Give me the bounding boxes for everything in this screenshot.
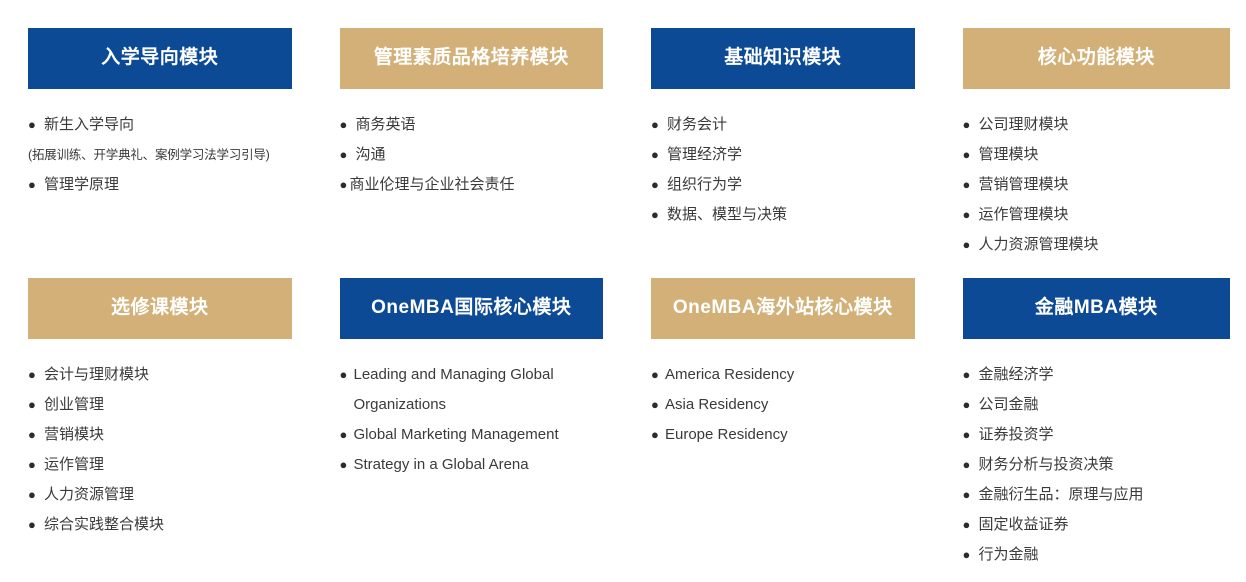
course-item-label: 行为金融 (979, 546, 1039, 563)
course-item-label: 公司金融 (979, 396, 1039, 413)
course-item: ●财务会计 (651, 110, 915, 140)
course-item-label: Asia Residency (665, 396, 768, 413)
module-title: 选修课模块 (111, 298, 209, 319)
course-item-label: 管理模块 (979, 146, 1039, 163)
course-item-label: 管理经济学 (667, 146, 742, 163)
bullet-icon: ● (651, 140, 659, 170)
module-course-list: ●会计与理财模块●创业管理●营销模块●运作管理●人力资源管理●综合实践整合模块 (28, 339, 292, 540)
bullet-icon: ● (963, 390, 971, 420)
module-course-list: ●新生入学导向(拓展训练、开学典礼、案例学习法学习引导)●管理学原理 (28, 89, 292, 200)
module-course-list: ●公司理财模块●管理模块●营销管理模块●运作管理模块●人力资源管理模块 (963, 89, 1231, 260)
module-header-module: 核心功能模块 (963, 28, 1231, 89)
module-row-2: 选修课模块●会计与理财模块●创业管理●营销模块●运作管理●人力资源管理●综合实践… (0, 250, 1246, 582)
module-header-module: 入学导向模块 (28, 28, 292, 89)
module-card: 管理素质品格培养模块●商务英语●沟通●商业伦理与企业社会责任 (312, 0, 624, 250)
course-item-label: 人力资源管理模块 (979, 236, 1099, 253)
course-item: ●金融衍生品：原理与应用 (963, 480, 1231, 510)
bullet-icon: ● (28, 510, 36, 540)
course-item-label: 公司理财模块 (979, 116, 1069, 133)
course-item: ●证券投资学 (963, 420, 1231, 450)
bullet-icon: ● (963, 200, 971, 230)
course-item-label: 人力资源管理 (44, 486, 134, 503)
bullet-icon: ● (28, 480, 36, 510)
bullet-icon: ● (963, 480, 971, 510)
course-item: ●公司理财模块 (963, 110, 1231, 140)
module-title: 金融MBA模块 (1035, 298, 1158, 319)
module-header-onemba: OneMBA海外站核心模块 (651, 278, 915, 339)
course-item: ●创业管理 (28, 390, 292, 420)
course-item: ●沟通 (340, 140, 604, 170)
course-item: ●财务分析与投资决策 (963, 450, 1231, 480)
course-item-label: 金融经济学 (979, 366, 1054, 383)
course-item-label: 组织行为学 (667, 176, 742, 193)
course-item-label: 管理学原理 (44, 176, 119, 193)
course-item: ●人力资源管理模块 (963, 230, 1231, 260)
module-title: 核心功能模块 (1038, 48, 1155, 69)
bullet-icon: ● (963, 360, 971, 390)
course-item: ●组织行为学 (651, 170, 915, 200)
course-item-label: 营销模块 (44, 426, 104, 443)
course-note: (拓展训练、开学典礼、案例学习法学习引导) (28, 140, 292, 170)
course-item-label: America Residency (665, 366, 794, 383)
curriculum-module-board: 入学导向模块●新生入学导向(拓展训练、开学典礼、案例学习法学习引导)●管理学原理… (0, 0, 1246, 582)
course-item: ●金融经济学 (963, 360, 1231, 390)
course-item-label: 商业伦理与企业社会责任 (350, 176, 515, 193)
module-card: 选修课模块●会计与理财模块●创业管理●营销模块●运作管理●人力资源管理●综合实践… (0, 250, 312, 582)
course-item: ●Global Marketing Management (340, 420, 604, 450)
course-item-label: 金融衍生品：原理与应用 (979, 486, 1144, 503)
course-item-label: 商务英语 (356, 116, 416, 133)
module-header-module: 选修课模块 (28, 278, 292, 339)
bullet-icon: ● (651, 420, 659, 450)
bullet-icon: ● (28, 110, 36, 140)
course-item-label: 数据、模型与决策 (667, 206, 787, 223)
module-title: OneMBA国际核心模块 (371, 298, 571, 319)
course-item: ●Europe Residency (651, 420, 915, 450)
module-title: 管理素质品格培养模块 (374, 48, 569, 69)
course-item: ●Leading and Managing Global Organizatio… (340, 360, 604, 420)
course-item-label: 营销管理模块 (979, 176, 1069, 193)
module-card: 入学导向模块●新生入学导向(拓展训练、开学典礼、案例学习法学习引导)●管理学原理 (0, 0, 312, 250)
course-item: ●运作管理 (28, 450, 292, 480)
bullet-icon: ● (963, 170, 971, 200)
bullet-icon: ● (28, 420, 36, 450)
module-course-list: ●Leading and Managing Global Organizatio… (340, 339, 604, 480)
module-header-onemba: OneMBA国际核心模块 (340, 278, 604, 339)
bullet-icon: ● (651, 200, 659, 230)
course-item: ●数据、模型与决策 (651, 200, 915, 230)
bullet-icon: ● (963, 510, 971, 540)
course-item-label: Strategy in a Global Arena (354, 456, 529, 473)
course-item-label: 运作管理 (44, 456, 104, 473)
bullet-icon: ● (340, 170, 348, 200)
course-item-label: Europe Residency (665, 426, 788, 443)
module-course-list: ●商务英语●沟通●商业伦理与企业社会责任 (340, 89, 604, 200)
course-item: ●Asia Residency (651, 390, 915, 420)
course-item: ●新生入学导向 (28, 110, 292, 140)
course-item: ●America Residency (651, 360, 915, 390)
course-item: ●管理学原理 (28, 170, 292, 200)
module-header-module: 管理素质品格培养模块 (340, 28, 604, 89)
bullet-icon: ● (651, 360, 659, 390)
module-header-mba: 金融MBA模块 (963, 278, 1231, 339)
course-item: ●人力资源管理 (28, 480, 292, 510)
bullet-icon: ● (651, 390, 659, 420)
module-card: OneMBA海外站核心模块●America Residency●Asia Res… (623, 250, 935, 582)
course-item: ●营销管理模块 (963, 170, 1231, 200)
bullet-icon: ● (963, 420, 971, 450)
course-item-label: 会计与理财模块 (44, 366, 149, 383)
course-item-label: 创业管理 (44, 396, 104, 413)
course-item: ●营销模块 (28, 420, 292, 450)
course-item-label: Leading and Managing Global Organization… (354, 366, 554, 413)
course-item: ●运作管理模块 (963, 200, 1231, 230)
course-item: ●固定收益证券 (963, 510, 1231, 540)
module-card: 核心功能模块●公司理财模块●管理模块●营销管理模块●运作管理模块●人力资源管理模… (935, 0, 1246, 250)
bullet-icon: ● (651, 110, 659, 140)
course-item-label: 综合实践整合模块 (44, 516, 164, 533)
bullet-icon: ● (340, 450, 348, 480)
bullet-icon: ● (963, 540, 971, 570)
bullet-icon: ● (28, 450, 36, 480)
course-item-label: 财务会计 (667, 116, 727, 133)
course-item: ●综合实践整合模块 (28, 510, 292, 540)
module-title: 入学导向模块 (101, 48, 218, 69)
bullet-icon: ● (340, 360, 348, 390)
course-item: ●会计与理财模块 (28, 360, 292, 390)
course-item: ●管理模块 (963, 140, 1231, 170)
bullet-icon: ● (28, 390, 36, 420)
module-course-list: ●金融经济学●公司金融●证券投资学●财务分析与投资决策●金融衍生品：原理与应用●… (963, 339, 1231, 570)
course-item: ●Strategy in a Global Arena (340, 450, 604, 480)
bullet-icon: ● (963, 110, 971, 140)
course-item: ●管理经济学 (651, 140, 915, 170)
course-item: ●公司金融 (963, 390, 1231, 420)
module-title: 基础知识模块 (724, 48, 841, 69)
module-title: OneMBA海外站核心模块 (673, 298, 893, 319)
course-item: ●商业伦理与企业社会责任 (340, 170, 604, 200)
module-card: 基础知识模块●财务会计●管理经济学●组织行为学●数据、模型与决策 (623, 0, 935, 250)
course-item-label: 运作管理模块 (979, 206, 1069, 223)
course-item-label: 固定收益证券 (979, 516, 1069, 533)
course-item: ●商务英语 (340, 110, 604, 140)
module-card: OneMBA国际核心模块●Leading and Managing Global… (312, 250, 624, 582)
bullet-icon: ● (340, 420, 348, 450)
bullet-icon: ● (28, 360, 36, 390)
bullet-icon: ● (340, 110, 348, 140)
course-item-label: Global Marketing Management (354, 426, 559, 443)
bullet-icon: ● (963, 230, 971, 260)
module-row-1: 入学导向模块●新生入学导向(拓展训练、开学典礼、案例学习法学习引导)●管理学原理… (0, 0, 1246, 250)
course-item-label: 证券投资学 (979, 426, 1054, 443)
module-course-list: ●财务会计●管理经济学●组织行为学●数据、模型与决策 (651, 89, 915, 230)
bullet-icon: ● (963, 140, 971, 170)
bullet-icon: ● (651, 170, 659, 200)
bullet-icon: ● (340, 140, 348, 170)
module-header-module: 基础知识模块 (651, 28, 915, 89)
bullet-icon: ● (963, 450, 971, 480)
module-card: 金融MBA模块●金融经济学●公司金融●证券投资学●财务分析与投资决策●金融衍生品… (935, 250, 1246, 582)
course-item-label: 新生入学导向 (44, 116, 134, 133)
course-item-label: 财务分析与投资决策 (979, 456, 1114, 473)
bullet-icon: ● (28, 170, 36, 200)
course-item: ●行为金融 (963, 540, 1231, 570)
course-item-label: 沟通 (356, 146, 386, 163)
module-course-list: ●America Residency●Asia Residency●Europe… (651, 339, 915, 450)
